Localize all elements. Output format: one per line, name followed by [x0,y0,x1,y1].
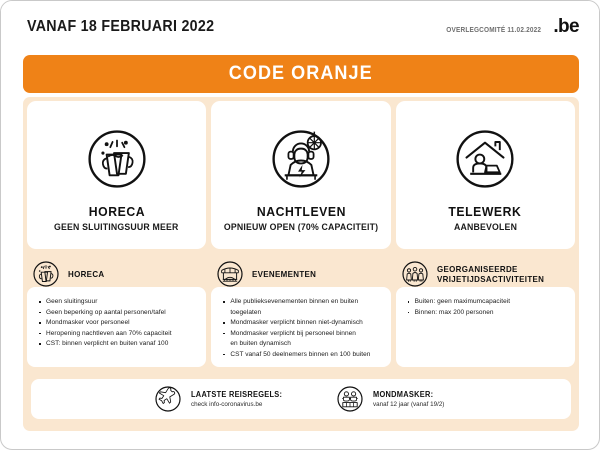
bullet-item: CST vanaf 50 deelnemers binnen en 100 bu… [222,350,381,361]
committee-meta-label: OVERLEGCOMITÉ 11.02.2022 [446,25,541,34]
effective-date-label: VANAF 18 FEBRUARI 2022 [27,18,214,36]
top-card-subtitle: AANBEVOLEN [454,222,517,232]
strip-item-text: MONDMASKER: vanaf 12 jaar (vanaf 19/2) [373,390,448,408]
detail-panel-label: GEORGANISEERDEVRIJETIJDSACTIVITEITEN [437,264,544,285]
beer-glasses-icon [31,259,61,289]
poster-header: VANAF 18 FEBRUARI 2022 OVERLEGCOMITÉ 11.… [1,1,600,53]
detail-panel-vrijetijd: GEORGANISEERDEVRIJETIJDSACTIVITEITEN Bui… [396,257,575,367]
strip-subtitle: check info-coronavirus.be [191,401,282,408]
top-card-title: NACHTLEVEN [256,204,345,219]
detail-panel-horeca: HORECA Geen sluitingsuur Geen beperking … [27,257,206,367]
detail-panel-content: Geen sluitingsuur Geen beperking op aant… [27,287,206,367]
strip-item-reisregels: LAATSTE REISREGELS: check info-coronavir… [153,384,287,414]
bottom-info-strip: LAATSTE REISREGELS: check info-coronavir… [31,379,571,419]
bullet-list: Alle publieksevenementen binnen en buite… [222,297,381,360]
airplane-travel-icon [153,384,183,414]
top-card-nachtleven: NACHTLEVEN OPNIEUW OPEN (70% CAPACITEIT) [211,101,390,249]
bullet-item: Mondmasker verplicht bij personeel binne… [222,329,381,340]
detail-panel-evenementen: EVENEMENTEN Alle publieksevenementen bin… [211,257,390,367]
top-card-horeca: HORECA GEEN SLUITINGSUUR MEER [27,101,206,249]
label-line-2: VRIJETIJDSACTIVITEITEN [437,274,544,284]
strip-title: LAATSTE REISREGELS: [191,390,282,399]
stage-tent-icon [215,259,245,289]
bullet-item: Alle publieksevenementen binnen en buite… [222,297,381,318]
top-card-subtitle: GEEN SLUITINGSUUR MEER [54,222,179,232]
bullet-item: Mondmasker voor personeel [38,318,197,329]
belgium-be-logo: .be [553,16,579,38]
top-card-title: TELEWERK [449,204,522,219]
bullet-list: Buiten: geen maximumcapaciteit Binnen: m… [407,297,566,318]
infographic-poster: VANAF 18 FEBRUARI 2022 OVERLEGCOMITÉ 11.… [0,0,600,450]
label-line-1: GEORGANISEERDE [437,264,518,274]
strip-item-mondmasker: MONDMASKER: vanaf 12 jaar (vanaf 19/2) [335,384,448,414]
bullet-item: Geen sluitingsuur [38,297,197,308]
dj-disco-ball-icon [264,122,338,196]
bullet-item: Mondmasker verplicht binnen niet-dynamis… [222,318,381,329]
top-card-row: HORECA GEEN SLUITINGSUUR MEER NACHTLEVEN… [27,101,575,249]
bullet-item: CST: binnen verplicht en buiten vanaf 10… [38,339,197,350]
strip-title: MONDMASKER: [373,390,444,399]
strip-item-text: LAATSTE REISREGELS: check info-coronavir… [191,390,287,408]
strip-subtitle: vanaf 12 jaar (vanaf 19/2) [373,401,444,408]
banner-title: CODE ORANJE [229,63,373,85]
people-group-icon [400,259,430,289]
bullet-item: Binnen: max 200 personen [407,308,566,319]
detail-panel-label: HORECA [68,269,104,279]
bullet-list: Geen sluitingsuur Geen beperking op aant… [38,297,197,350]
top-card-subtitle: OPNIEUW OPEN (70% CAPACITEIT) [224,222,378,232]
bullet-item: Buiten: geen maximumcapaciteit [407,297,566,308]
bullet-item: Geen beperking op aantal personen/tafel [38,308,197,319]
home-laptop-icon [448,122,522,196]
top-card-telewerk: TELEWERK AANBEVOLEN [396,101,575,249]
face-mask-people-icon [335,384,365,414]
beer-glasses-icon [80,122,154,196]
detail-panel-header: GEORGANISEERDEVRIJETIJDSACTIVITEITEN [396,257,575,291]
header-right-group: OVERLEGCOMITÉ 11.02.2022 .be [441,16,579,38]
bullet-item: Heropening nachtleven aan 70% capaciteit [38,329,197,340]
code-orange-banner: CODE ORANJE [23,55,579,93]
detail-panel-content: Buiten: geen maximumcapaciteit Binnen: m… [396,287,575,367]
bullet-item-continuation: en buiten dynamisch [222,339,381,350]
detail-panel-header: HORECA [27,257,206,291]
detail-panel-row: HORECA Geen sluitingsuur Geen beperking … [27,257,575,367]
detail-panel-content: Alle publieksevenementen binnen en buite… [211,287,390,367]
top-card-title: HORECA [88,204,144,219]
detail-panel-header: EVENEMENTEN [211,257,390,291]
detail-panel-label: EVENEMENTEN [252,269,316,279]
